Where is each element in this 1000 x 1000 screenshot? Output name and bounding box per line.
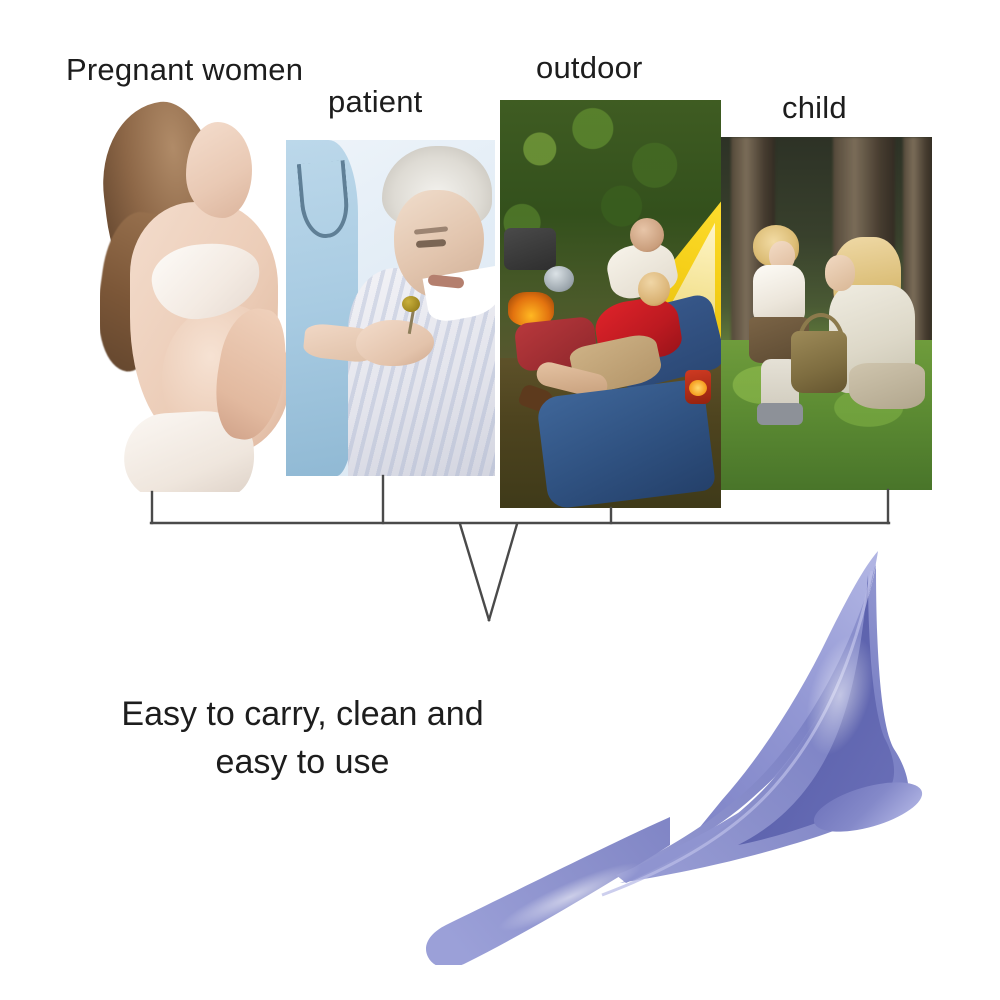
camp-pot-shape [544, 266, 574, 292]
nurse-hand-shape [356, 320, 434, 366]
woman-head-shape [638, 272, 670, 306]
category-label-outdoor: outdoor [536, 50, 643, 86]
funnel-spout-tail [426, 817, 670, 965]
face-shape [186, 122, 252, 218]
category-photo-child [721, 137, 932, 490]
product-image-urination-funnel [370, 545, 950, 965]
category-photo-patient [286, 140, 495, 476]
mother-face-shape [825, 255, 855, 291]
child-boots-shape [757, 403, 803, 425]
shoulder-bag-shape [791, 331, 847, 393]
category-label-pregnant-women: Pregnant women [66, 52, 303, 88]
category-photo-pregnant-women [100, 92, 290, 492]
category-label-child: child [782, 90, 847, 126]
mother-leg-shape [849, 363, 925, 409]
child-top-shape [753, 265, 805, 323]
infographic-page: Pregnant women patient outdoor child [0, 0, 1000, 1000]
man-head-shape [630, 218, 664, 252]
spoon-bowl-shape [402, 296, 420, 312]
cooler-bag-shape [504, 228, 556, 270]
lantern-glow-shape [689, 380, 707, 396]
category-photo-outdoor [500, 100, 721, 508]
category-label-patient: patient [328, 84, 422, 120]
